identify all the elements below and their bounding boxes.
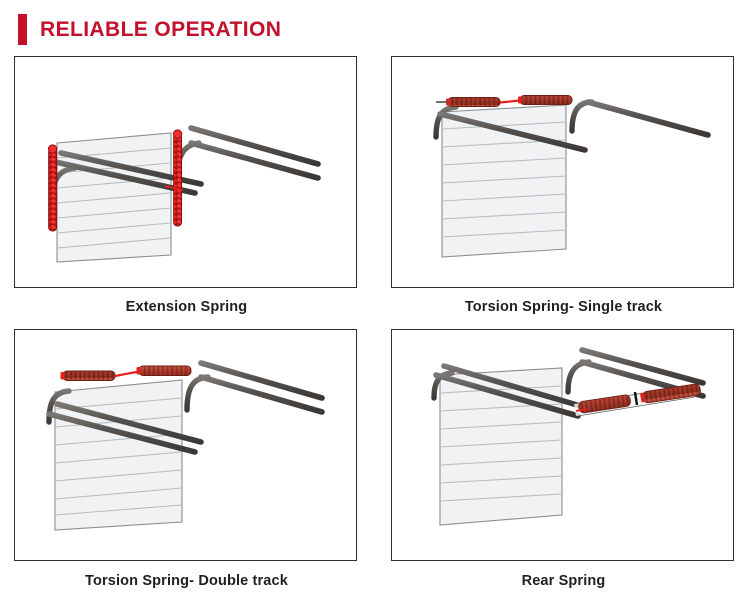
diagram-frame-4 <box>391 329 734 561</box>
torsion-spring-left <box>61 371 116 381</box>
panel-rear-spring: Rear Spring <box>391 329 736 589</box>
page-title: RELIABLE OPERATION <box>40 19 281 40</box>
panel-caption-4: Rear Spring <box>391 561 736 589</box>
header-accent-bar <box>18 14 27 45</box>
torsion-spring-right <box>518 96 572 105</box>
extension-spring-left <box>48 145 56 231</box>
diagram-torsion-spring-double-track <box>15 330 356 560</box>
torsion-spring-left <box>446 98 500 107</box>
horizontal-track-rear <box>588 102 708 135</box>
torsion-shaft <box>500 101 520 103</box>
diagram-extension-spring <box>15 57 356 287</box>
page-root: RELIABLE OPERATION <box>0 0 750 616</box>
vertical-track-right <box>572 102 592 253</box>
garage-door-leaf <box>57 133 171 262</box>
diagram-torsion-spring-single-track <box>392 57 733 287</box>
vertical-track-right <box>568 362 589 512</box>
diagram-rear-spring <box>392 330 733 560</box>
torsion-shaft <box>115 372 139 377</box>
panel-caption-3: Torsion Spring- Double track <box>14 561 359 589</box>
vertical-track-right <box>187 377 208 517</box>
panel-caption-2: Torsion Spring- Single track <box>391 288 736 315</box>
garage-door-leaf <box>55 380 182 530</box>
diagram-frame-2 <box>391 56 734 288</box>
panel-extension-spring: Extension Spring <box>14 56 359 315</box>
panel-torsion-double-track: Torsion Spring- Double track <box>14 329 359 589</box>
torsion-spring-right <box>137 366 192 376</box>
panel-torsion-single-track: Torsion Spring- Single track <box>391 56 736 315</box>
diagram-frame-1 <box>14 56 357 288</box>
horizontal-track-pair-rear <box>201 363 322 412</box>
rear-spring-assembly <box>574 383 701 416</box>
diagram-frame-3 <box>14 329 357 561</box>
horizontal-track-pair-rear <box>191 128 318 178</box>
diagram-grid: Extension Spring <box>14 56 736 589</box>
page-header: RELIABLE OPERATION <box>18 12 281 46</box>
extension-spring-right <box>173 130 181 226</box>
panel-caption-1: Extension Spring <box>14 288 359 315</box>
